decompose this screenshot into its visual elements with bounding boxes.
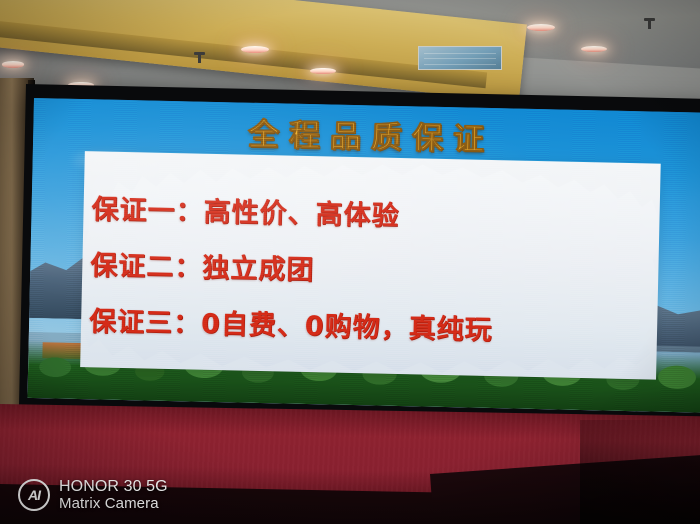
watermark-text: HONOR 30 5G Matrix Camera [59, 478, 168, 513]
slide-line-3: 保证三：0自费、0购物，真纯玩 [89, 299, 676, 351]
sprinkler-icon-1 [198, 52, 201, 63]
air-vent-icon [418, 46, 502, 70]
downlight-icon-1 [0, 58, 26, 71]
downlight-icon-3 [238, 42, 272, 57]
downlight-icon-6 [578, 42, 610, 56]
slide-body-lines: 保证一：高性价、高体验保证二：独立成团保证三：0自费、0购物，真纯玩 [88, 187, 678, 368]
downlight-icon-4 [308, 64, 338, 78]
led-screen: 全程品质保证 保证一：高性价、高体验保证二：独立成团保证三：0自费、0购物，真纯… [27, 98, 700, 413]
camera-watermark: AI HONOR 30 5G Matrix Camera [18, 478, 168, 513]
watermark-device: HONOR 30 5G [59, 478, 168, 496]
photograph: 全程品质保证 保证一：高性价、高体验保证二：独立成团保证三：0自费、0购物，真纯… [0, 0, 700, 524]
sprinkler-icon-2 [648, 18, 651, 29]
downlight-icon-5 [524, 20, 558, 35]
right-corner-shadow [580, 420, 700, 524]
ai-logo-icon: AI [18, 479, 50, 511]
watermark-mode: Matrix Camera [59, 496, 168, 513]
slide-line-2: 保证二：独立成团 [90, 243, 677, 295]
